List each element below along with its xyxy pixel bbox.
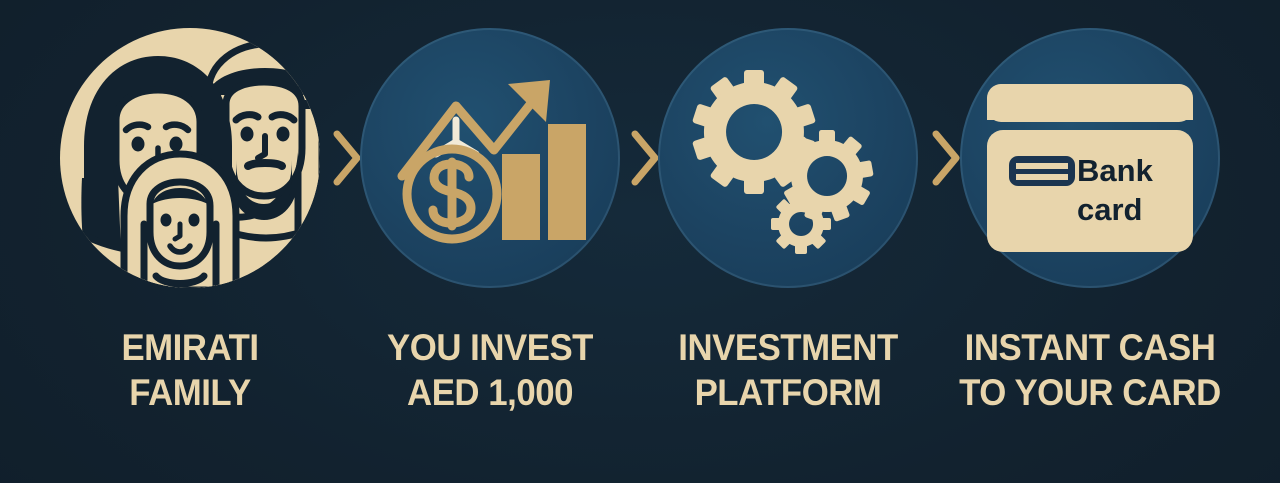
step-4-circle: Bank card <box>960 28 1220 288</box>
step-2-label-line2: AED 1,000 <box>349 370 631 415</box>
bank-card-icon: Bank card <box>985 58 1195 258</box>
step-investment-platform: INVESTMENT PLATFORM <box>638 0 938 483</box>
card-body <box>987 130 1193 252</box>
step-instant-cash: Bank card INSTANT CASH TO YOUR CARD <box>940 0 1240 483</box>
step-1-label: EMIRATI FAMILY <box>49 325 331 415</box>
step-3-label: INVESTMENT PLATFORM <box>647 325 929 415</box>
step-2-label: YOU INVEST AED 1,000 <box>349 325 631 415</box>
infographic-canvas: EMIRATI FAMILY <box>0 0 1280 483</box>
card-top-strip <box>987 84 1193 122</box>
emirati-family-icon <box>60 28 320 288</box>
card-text-line2: card <box>1077 192 1142 227</box>
step-3-label-line2: PLATFORM <box>647 370 929 415</box>
step-2-circle <box>360 28 620 288</box>
gears-icon <box>688 58 888 258</box>
step-you-invest: YOU INVEST AED 1,000 <box>340 0 640 483</box>
step-emirati-family: EMIRATI FAMILY <box>40 0 340 483</box>
gear-small <box>771 194 831 254</box>
step-4-label-line1: INSTANT CASH <box>949 325 1231 370</box>
step-4-label-line2: TO YOUR CARD <box>949 370 1231 415</box>
step-2-label-line1: YOU INVEST <box>349 325 631 370</box>
step-3-circle <box>658 28 918 288</box>
growth-chart-dollar-icon <box>390 58 590 258</box>
card-text-line1: Bank <box>1077 153 1154 188</box>
step-4-label: INSTANT CASH TO YOUR CARD <box>949 325 1231 415</box>
step-1-circle <box>60 28 320 288</box>
step-1-label-line1: EMIRATI <box>49 325 331 370</box>
card-chip-icon <box>1009 156 1075 186</box>
step-3-label-line1: INVESTMENT <box>647 325 929 370</box>
step-1-label-line2: FAMILY <box>49 370 331 415</box>
